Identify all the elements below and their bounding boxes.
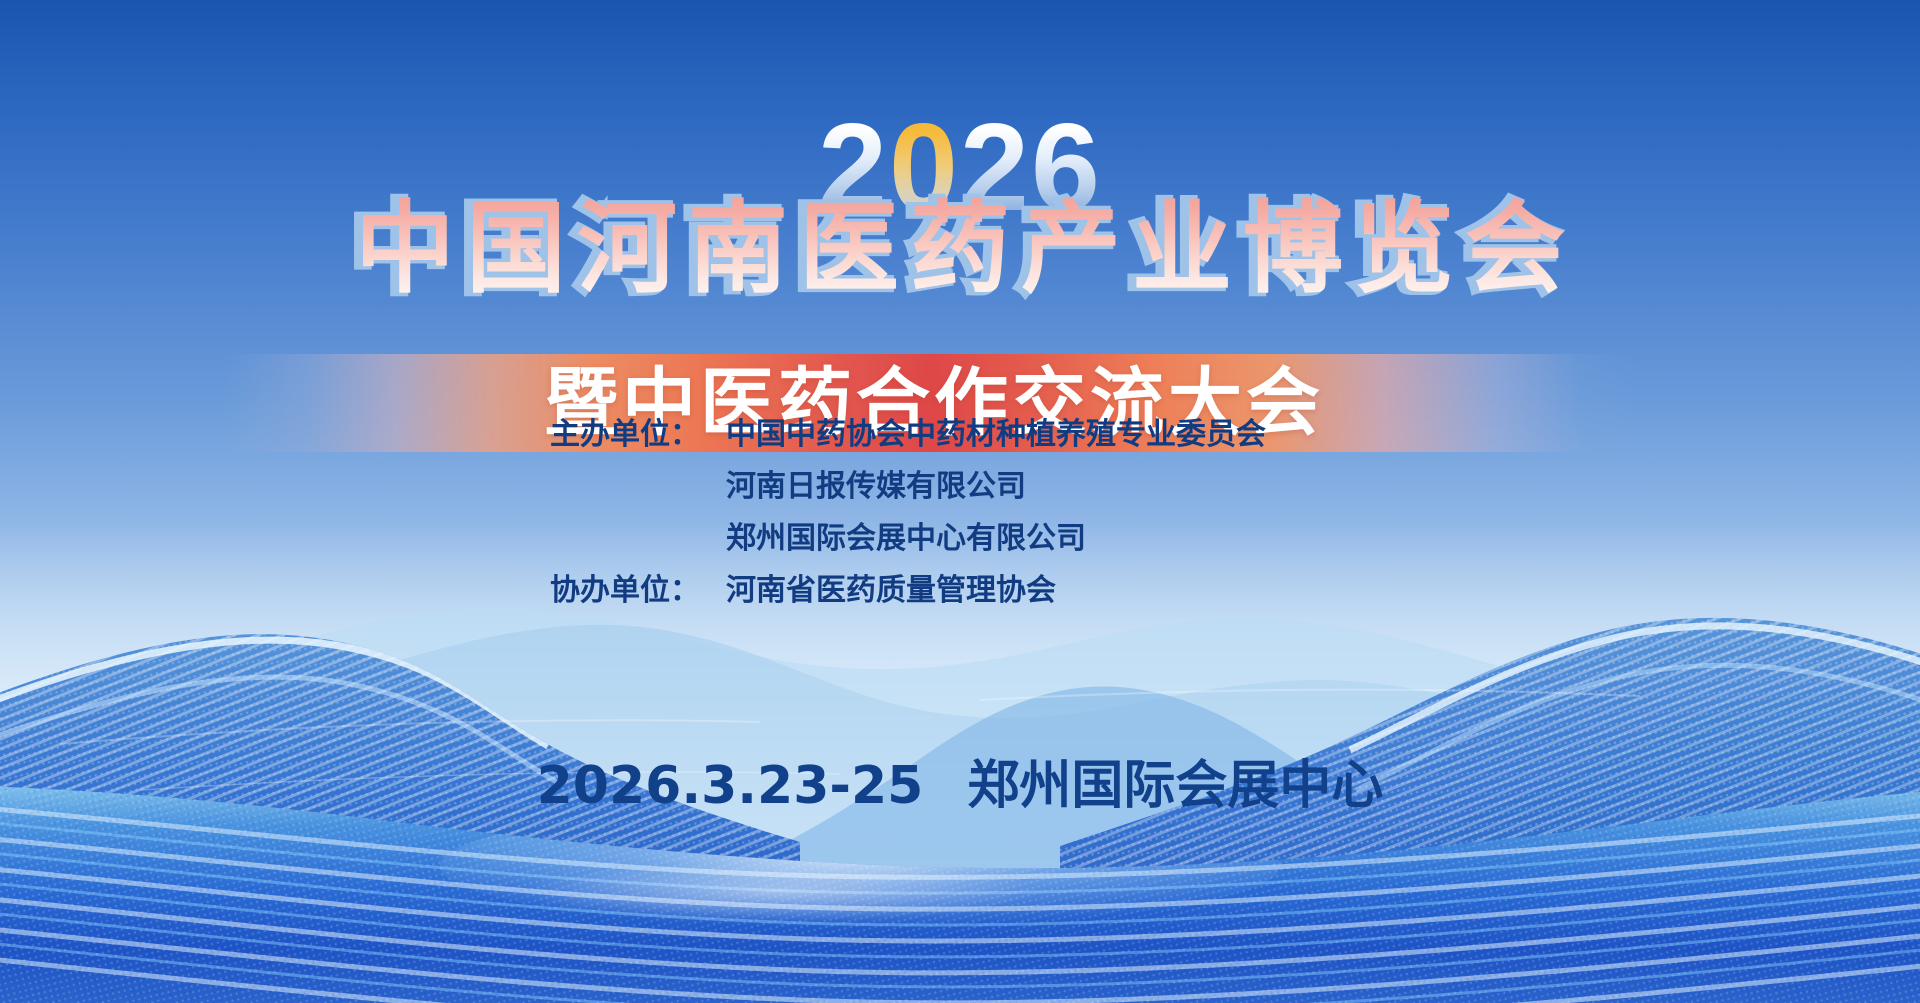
event-venue: 郑州国际会展中心 <box>967 760 1383 812</box>
main-title-text: 中国河南医药产业博览会 中国河南医药产业博览会 <box>344 196 1576 302</box>
main-title-fill: 中国河南医药产业博览会 <box>355 190 1576 307</box>
organizer-value: 中国中药协会中药材种植养殖专业委员会 <box>726 420 1370 450</box>
organizer-label: 协办单位： <box>550 576 726 606</box>
page-title: 中国河南医药产业博览会 中国河南医药产业博览会 <box>0 196 1920 302</box>
event-banner: 2026 中国河南医药产业博览会 中国河南医药产业博览会 暨中医药合作交流大会 … <box>0 0 1920 1003</box>
organizer-row: 协办单位： 河南省医药质量管理协会 <box>550 576 1370 606</box>
organizer-block: 主办单位： 中国中药协会中药材种植养殖专业委员会 河南日报传媒有限公司 郑州国际… <box>0 420 1920 628</box>
organizer-value: 河南日报传媒有限公司 <box>726 472 1370 502</box>
organizer-value: 河南省医药质量管理协会 <box>726 576 1370 606</box>
organizer-row: 主办单位： 中国中药协会中药材种植养殖专业委员会 <box>550 420 1370 450</box>
organizer-label: 主办单位： <box>550 420 726 450</box>
date-venue-line: 2026.3.23-25郑州国际会展中心 <box>0 760 1920 812</box>
organizer-value: 郑州国际会展中心有限公司 <box>726 524 1370 554</box>
organizer-row: 河南日报传媒有限公司 <box>550 472 1370 502</box>
organizer-row: 郑州国际会展中心有限公司 <box>550 524 1370 554</box>
event-date: 2026.3.23-25 <box>537 760 924 812</box>
